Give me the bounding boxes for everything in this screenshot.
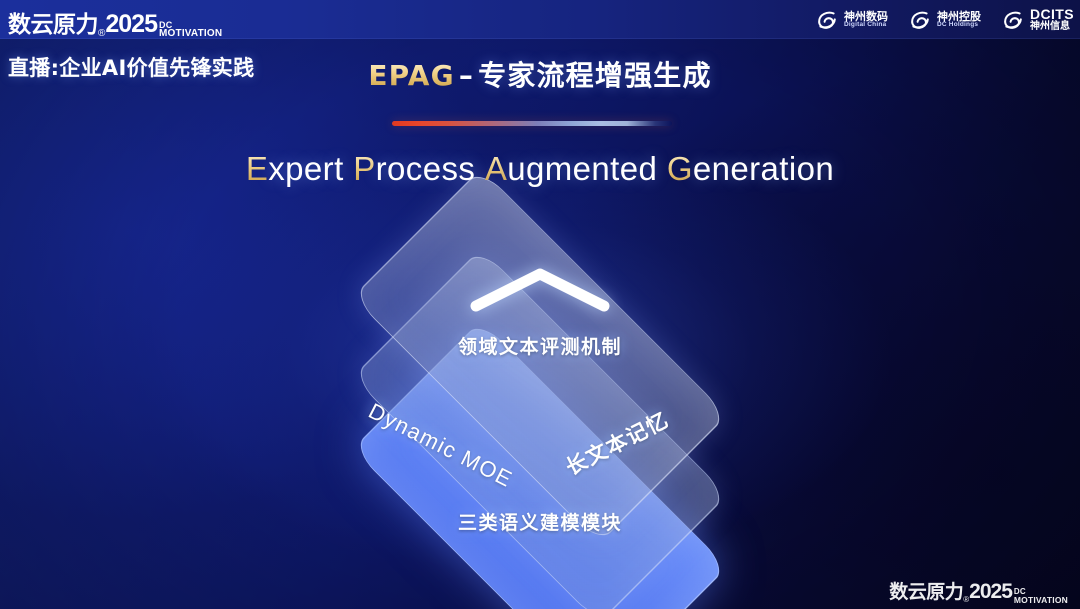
layer-label-bottom: 三类语义建模模块	[0, 508, 1080, 535]
brand-motivation: MOTIVATION	[159, 29, 222, 39]
page-subtitle: Expert Process Augmented Generation	[0, 150, 1080, 188]
partner-name-en: DC Holdings	[937, 22, 981, 29]
partner-name-cn: 神州信息	[1030, 22, 1074, 33]
partner-logo-digital-china: 神州数码 Digital China	[815, 8, 888, 32]
registered-mark: ®	[98, 28, 105, 39]
subtitle-rest-augmented: ugmented	[507, 150, 657, 187]
brand-name-cn: 数云原力	[8, 5, 98, 39]
brand-name-cn: 数云原力	[889, 577, 963, 604]
subtitle-cap-p: P	[353, 150, 375, 187]
brand-year: 2025	[969, 580, 1012, 604]
subtitle-space-2	[475, 150, 485, 187]
event-logo-bottom: 数云原力 ® 2025 DC MOTIVATION	[889, 577, 1068, 604]
swirl-icon	[815, 8, 839, 32]
title-acronym: EPAG	[368, 59, 455, 92]
brand-year: 2025	[105, 10, 157, 39]
title-chinese: 专家流程增强生成	[478, 59, 712, 92]
swirl-icon	[1001, 8, 1025, 32]
partner-name-en: Digital China	[844, 22, 888, 29]
partner-name-en: DCITS	[1030, 7, 1074, 22]
partner-logo-dc-holdings: 神州控股 DC Holdings	[908, 8, 981, 32]
layer-label-top: 领域文本评测机制	[0, 332, 1080, 359]
title-dash: –	[455, 59, 478, 92]
subtitle-rest-expert: xpert	[268, 150, 343, 187]
subtitle-cap-a: A	[485, 150, 507, 187]
subtitle-rest-process: rocess	[376, 150, 476, 187]
title-accent-rule	[392, 121, 672, 126]
partner-logo-row: 神州数码 Digital China 神州控股 DC Holdings DCIT…	[815, 4, 1074, 36]
subtitle-rest-generation: eneration	[693, 150, 834, 187]
subtitle-cap-e: E	[246, 150, 268, 187]
layered-architecture-diagram	[0, 216, 1080, 596]
brand-motivation: MOTIVATION	[1014, 596, 1068, 604]
partner-logo-dcits: DCITS 神州信息	[1001, 7, 1074, 32]
chevron-up-icon	[468, 264, 612, 314]
subtitle-space-1	[344, 150, 354, 187]
page-title: EPAG–专家流程增强生成	[0, 54, 1080, 94]
event-logo-top: 数云原力 ® 2025 DC MOTIVATION	[8, 5, 222, 39]
swirl-icon	[908, 8, 932, 32]
subtitle-space-3	[657, 150, 667, 187]
presentation-slide: 数云原力 ® 2025 DC MOTIVATION 神州数码 Digital C…	[0, 0, 1080, 609]
subtitle-cap-g: G	[667, 150, 693, 187]
